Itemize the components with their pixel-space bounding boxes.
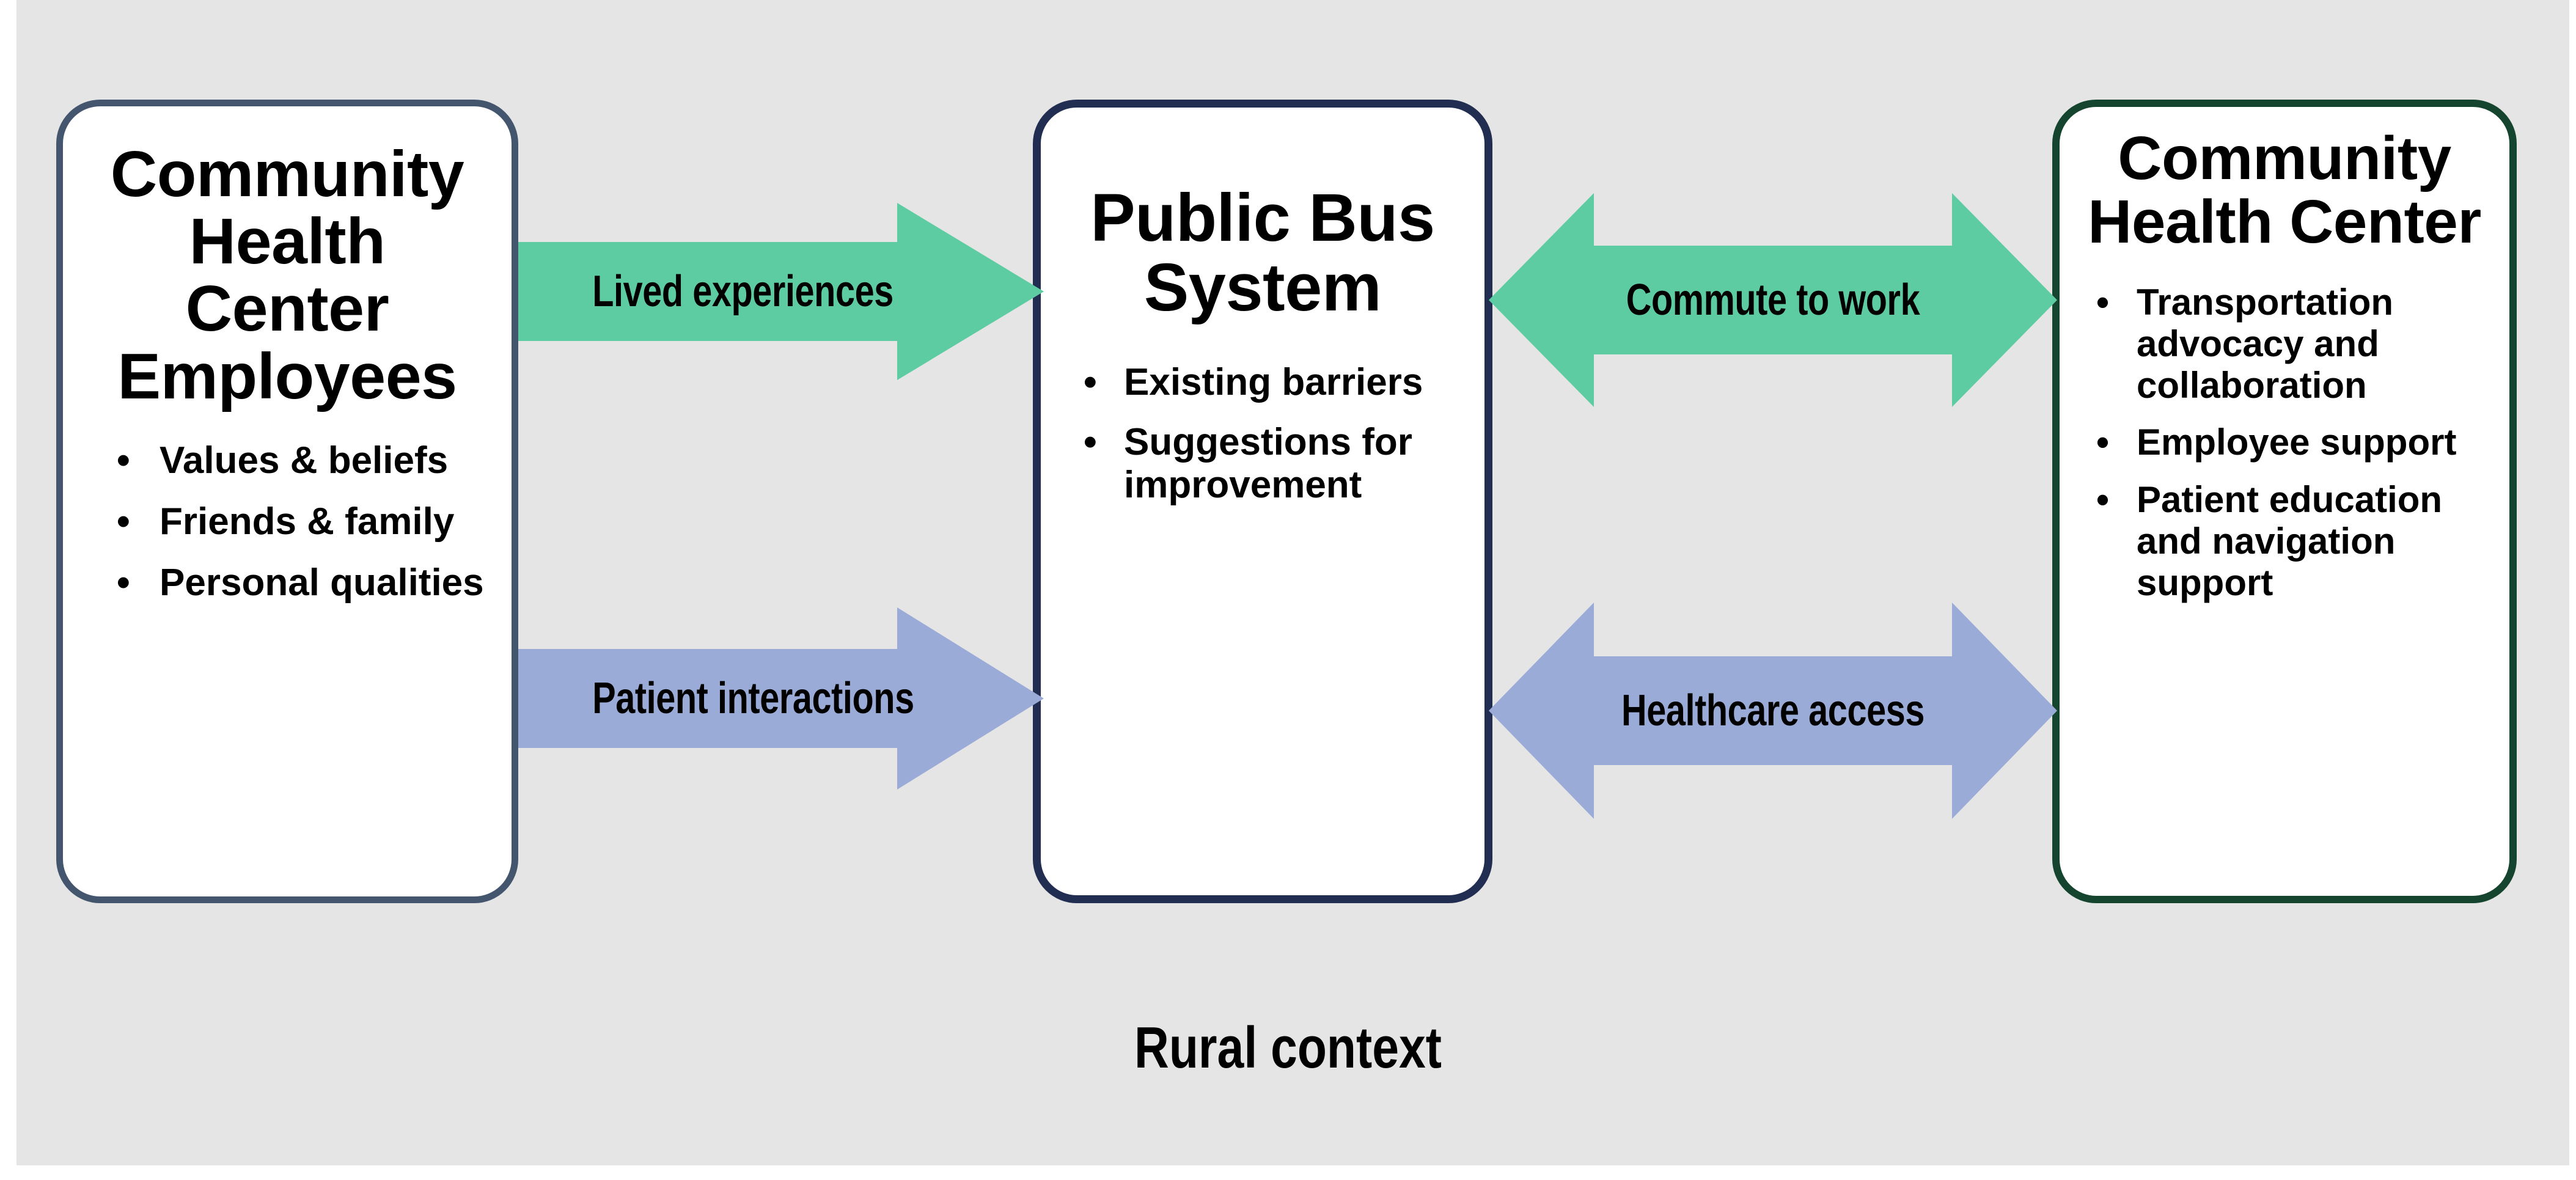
list-item: • Values & beliefs (117, 439, 496, 482)
arrow-label-patient-interactions: Patient interactions (571, 607, 991, 790)
node-bullet-list-bus: • Existing barriers • Suggestions for im… (1057, 361, 1469, 524)
list-item-label: Friends & family (160, 500, 496, 543)
list-item: • Suggestions for improvement (1084, 421, 1469, 507)
node-bullet-list-chc: • Transportation advocacy and collaborat… (2075, 282, 2493, 620)
bullet-icon: • (117, 439, 130, 482)
node-title-bus: Public Bus System (1057, 183, 1469, 323)
node-public-bus-system[interactable]: Public Bus System • Existing barriers • … (1033, 100, 1492, 903)
bullet-icon: • (2096, 479, 2109, 521)
node-community-health-center-employees[interactable]: Community Health Center Employees • Valu… (56, 100, 518, 903)
arrow-patient-interactions[interactable]: Patient interactions (518, 607, 1044, 790)
bullet-icon: • (117, 562, 130, 604)
list-item: • Personal qualities (117, 562, 496, 604)
node-community-health-center[interactable]: Community Health Center • Transportation… (2052, 100, 2517, 903)
bullet-icon: • (2096, 282, 2109, 323)
arrow-label-healthcare-access: Healthcare access (1546, 603, 2000, 819)
list-item-label: Patient education and navigation support (2137, 479, 2493, 603)
list-item-label: Personal qualities (160, 562, 496, 604)
arrow-healthcare-access[interactable]: Healthcare access (1489, 603, 2057, 819)
list-item: • Existing barriers (1084, 361, 1469, 404)
diagram-caption: Rural context (232, 1014, 2344, 1082)
list-item-label: Employee support (2137, 422, 2493, 463)
bullet-icon: • (2096, 422, 2109, 463)
list-item: • Employee support (2096, 422, 2493, 463)
list-item: • Transportation advocacy and collaborat… (2096, 282, 2493, 406)
arrow-label-commute-to-work: Commute to work (1546, 193, 2000, 407)
arrow-lived-experiences[interactable]: Lived experiences (518, 203, 1044, 380)
list-item-label: Transportation advocacy and collaboratio… (2137, 282, 2493, 406)
arrow-label-lived-experiences: Lived experiences (571, 203, 991, 380)
node-bullet-list-employees: • Values & beliefs • Friends & family • … (79, 439, 496, 623)
list-item-label: Suggestions for improvement (1124, 421, 1469, 507)
bullet-icon: • (1084, 421, 1097, 464)
bullet-icon: • (117, 500, 130, 543)
list-item-label: Values & beliefs (160, 439, 496, 482)
list-item: • Patient education and navigation suppo… (2096, 479, 2493, 603)
node-title-employees: Community Health Center Employees (79, 141, 496, 410)
node-title-chc: Community Health Center (2075, 126, 2493, 254)
diagram-canvas: Community Health Center Employees • Valu… (0, 0, 2576, 1180)
bullet-icon: • (1084, 361, 1097, 404)
arrow-commute-to-work[interactable]: Commute to work (1489, 193, 2057, 407)
list-item: • Friends & family (117, 500, 496, 543)
list-item-label: Existing barriers (1124, 361, 1469, 404)
